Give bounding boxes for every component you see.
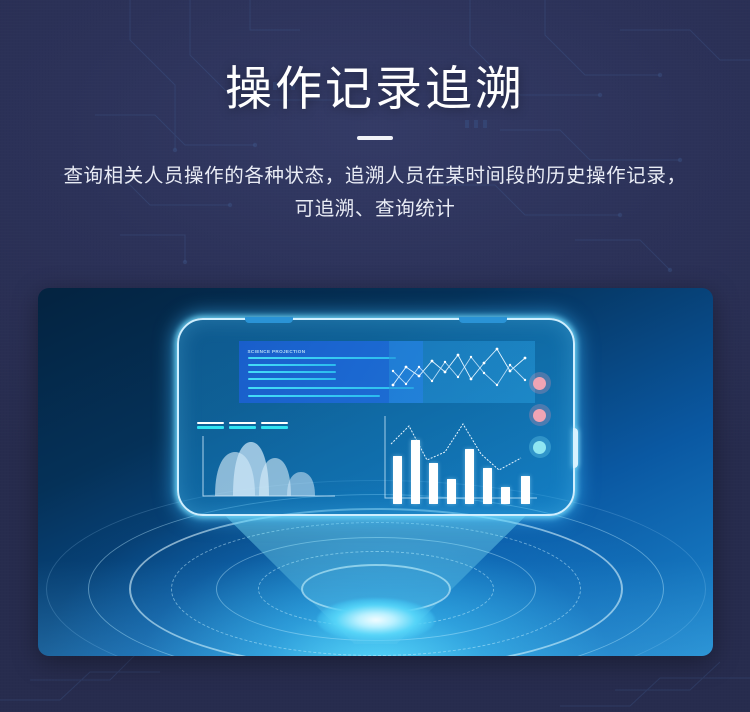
indicator-dot-3[interactable]	[529, 436, 551, 458]
device-screen: SCIENCE PROJECTION	[185, 326, 567, 508]
bar	[411, 440, 420, 504]
page-header: 操作记录追溯 查询相关人员操作的各种状态，追溯人员在某时间段的历史操作记录，可追…	[0, 0, 750, 227]
bar	[501, 487, 510, 504]
bar	[429, 463, 438, 504]
doc-line	[248, 395, 380, 397]
indicator-dot-1[interactable]	[529, 372, 551, 394]
title-divider	[357, 136, 393, 140]
indicator-dot-2[interactable]	[529, 404, 551, 426]
legend-chip-1	[197, 422, 224, 429]
doc-line	[248, 378, 336, 380]
page-subtitle: 查询相关人员操作的各种状态，追溯人员在某时间段的历史操作记录，可追溯、查询统计	[55, 160, 695, 227]
operation-bar-chart	[381, 414, 541, 504]
bar	[465, 449, 474, 504]
document-panel-title: SCIENCE PROJECTION	[248, 349, 306, 354]
bar	[521, 476, 530, 504]
indicator-dot-stack	[529, 372, 551, 458]
device-notch-left	[245, 317, 293, 323]
doc-line	[248, 371, 336, 373]
doc-line	[248, 364, 336, 366]
device-side-button[interactable]	[573, 428, 578, 468]
doc-line	[248, 357, 396, 359]
illustration-card: SCIENCE PROJECTION	[38, 288, 713, 656]
projector-hub-glow	[317, 598, 435, 642]
legend-chip-3	[261, 422, 288, 429]
chart-legend	[197, 422, 288, 429]
bar	[447, 479, 456, 504]
bell-area-chart	[195, 434, 341, 504]
zigzag-line-chart	[389, 341, 535, 403]
bar	[393, 456, 402, 504]
device-notch-right	[459, 317, 507, 323]
tablet-device[interactable]: SCIENCE PROJECTION	[177, 318, 575, 516]
bar	[483, 468, 492, 504]
page-title: 操作记录追溯	[0, 63, 750, 116]
legend-chip-2	[229, 422, 256, 429]
page-root: 操作记录追溯 查询相关人员操作的各种状态，追溯人员在某时间段的历史操作记录，可追…	[0, 0, 750, 712]
